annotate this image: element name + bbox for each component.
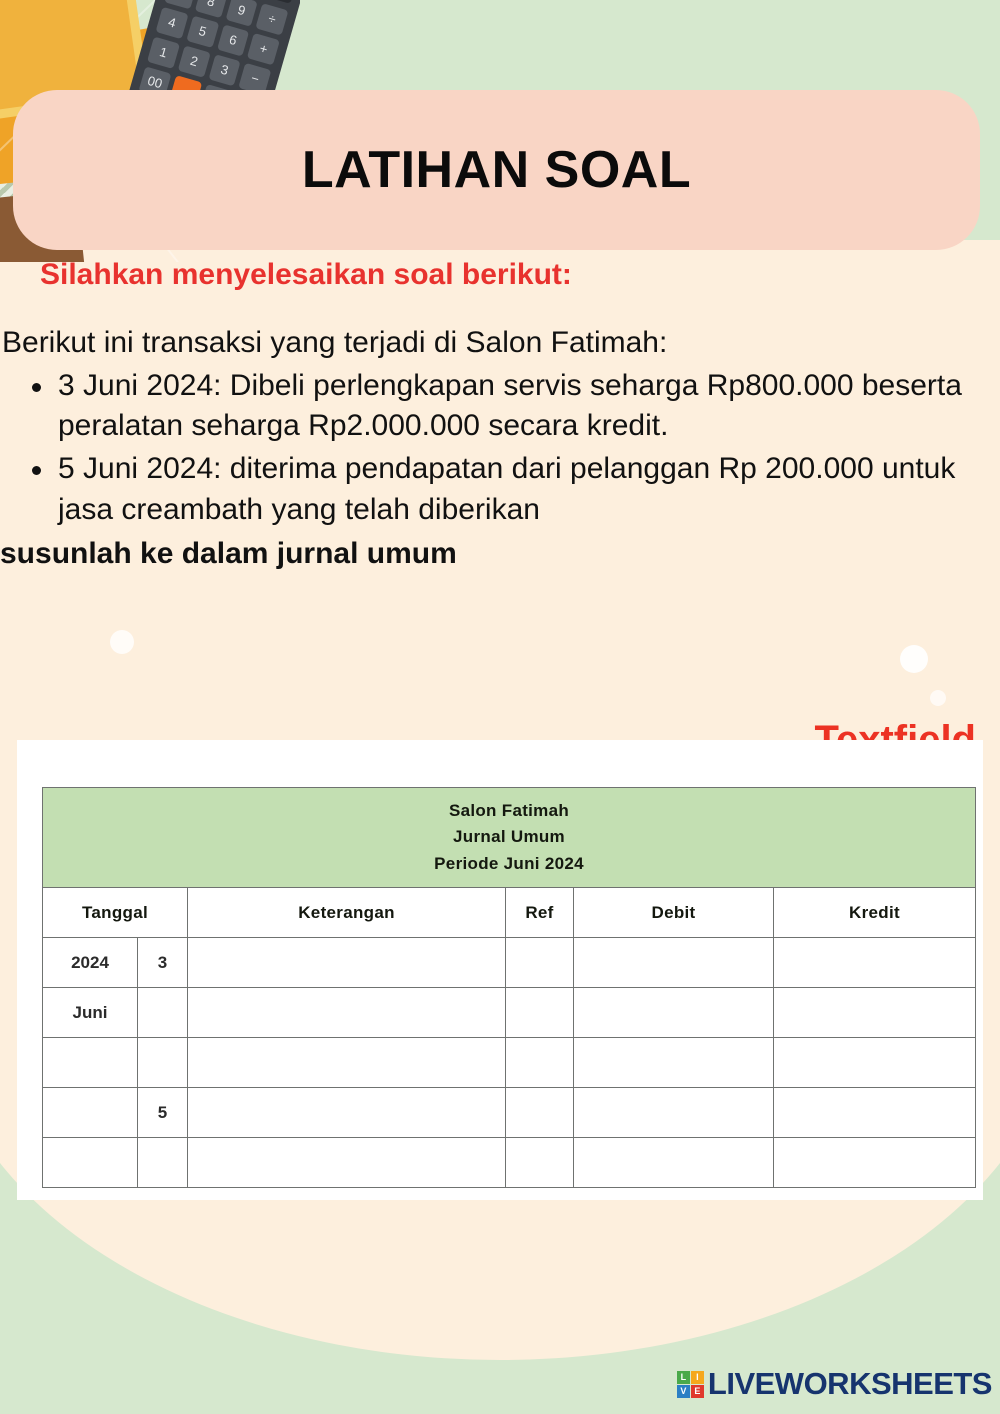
cell-day[interactable]: 3	[138, 938, 188, 988]
list-item: 3 Juni 2024: Dibeli perlengkapan servis …	[58, 366, 985, 448]
cell-kredit[interactable]	[774, 938, 976, 988]
liveworksheets-tiles-icon: L I V E	[677, 1371, 704, 1398]
calc-key: 6	[217, 24, 250, 56]
table-row	[43, 1138, 976, 1188]
cell-keterangan[interactable]	[188, 1038, 506, 1088]
cell-ref[interactable]	[506, 1138, 574, 1188]
cell-year[interactable]	[43, 1138, 138, 1188]
calc-key: 1	[147, 37, 180, 69]
cell-kredit[interactable]	[774, 1138, 976, 1188]
decor-dot	[930, 690, 946, 706]
cell-day[interactable]	[138, 1138, 188, 1188]
table-row: 2024 3	[43, 938, 976, 988]
journal-heading-cell: Salon Fatimah Jurnal Umum Periode Juni 2…	[43, 788, 976, 888]
column-header-kredit: Kredit	[774, 888, 976, 938]
logo-tile-v: V	[677, 1385, 690, 1398]
column-header-tanggal: Tanggal	[43, 888, 188, 938]
calc-key: 8	[195, 0, 228, 18]
cell-day[interactable]	[138, 1038, 188, 1088]
table-row: Juni	[43, 988, 976, 1038]
cell-kredit[interactable]	[774, 1088, 976, 1138]
logo-tile-l: L	[677, 1371, 690, 1384]
table-row: 5	[43, 1088, 976, 1138]
cell-keterangan[interactable]	[188, 988, 506, 1038]
calc-key: +	[247, 33, 280, 65]
cell-year[interactable]: 2024	[43, 938, 138, 988]
question-closing: susunlah ke dalam jurnal umum	[0, 537, 985, 571]
title-banner: LATIHAN SOAL	[13, 90, 980, 250]
page-title: LATIHAN SOAL	[302, 140, 691, 200]
cell-year[interactable]	[43, 1088, 138, 1138]
cell-debit[interactable]	[574, 938, 774, 988]
cell-kredit[interactable]	[774, 1038, 976, 1088]
table-row	[43, 1038, 976, 1088]
list-item: 5 Juni 2024: diterima pendapatan dari pe…	[58, 449, 985, 531]
cell-debit[interactable]	[574, 1038, 774, 1088]
transaction-list: 3 Juni 2024: Dibeli perlengkapan servis …	[0, 366, 985, 531]
cell-ref[interactable]	[506, 938, 574, 988]
cell-debit[interactable]	[574, 1088, 774, 1138]
cell-ref[interactable]	[506, 1088, 574, 1138]
journal-company: Salon Fatimah	[43, 798, 975, 824]
logo-tile-e: E	[691, 1385, 704, 1398]
calc-key: 5	[186, 16, 219, 48]
journal-period: Periode Juni 2024	[43, 851, 975, 877]
cell-day[interactable]	[138, 988, 188, 1038]
logo-tile-i: I	[691, 1371, 704, 1384]
table-header-row: Tanggal Keterangan Ref Debit Kredit	[43, 888, 976, 938]
instruction-heading: Silahkan menyelesaikan soal berikut:	[40, 258, 572, 292]
journal-table: Salon Fatimah Jurnal Umum Periode Juni 2…	[42, 787, 976, 1188]
question-block: Berikut ini transaksi yang terjadi di Sa…	[0, 325, 985, 571]
calc-key: 9	[225, 0, 258, 27]
cell-keterangan[interactable]	[188, 1088, 506, 1138]
calc-key: 3	[208, 54, 241, 86]
cell-debit[interactable]	[574, 1138, 774, 1188]
brand-wordmark: LIVEWORKSHEETS	[708, 1366, 992, 1402]
table-title-row: Salon Fatimah Jurnal Umum Periode Juni 2…	[43, 788, 976, 888]
cell-keterangan[interactable]	[188, 938, 506, 988]
cell-year[interactable]: Juni	[43, 988, 138, 1038]
cell-ref[interactable]	[506, 988, 574, 1038]
column-header-keterangan: Keterangan	[188, 888, 506, 938]
worksheet-page: 7 8 9 ÷ 4 5 6 + 1 2 3 − 00 LATIHAN SOAL …	[0, 0, 1000, 1414]
cell-kredit[interactable]	[774, 988, 976, 1038]
decor-dot	[900, 645, 928, 673]
cell-keterangan[interactable]	[188, 1138, 506, 1188]
cell-debit[interactable]	[574, 988, 774, 1038]
cell-day[interactable]: 5	[138, 1088, 188, 1138]
decor-dot	[110, 630, 134, 654]
cell-year[interactable]	[43, 1038, 138, 1088]
column-header-ref: Ref	[506, 888, 574, 938]
journal-type: Jurnal Umum	[43, 824, 975, 850]
question-lead: Berikut ini transaksi yang terjadi di Sa…	[0, 325, 985, 362]
journal-table-card: Salon Fatimah Jurnal Umum Periode Juni 2…	[17, 740, 983, 1200]
column-header-debit: Debit	[574, 888, 774, 938]
cell-ref[interactable]	[506, 1038, 574, 1088]
calc-key: ÷	[256, 3, 289, 35]
calc-key: 4	[155, 7, 188, 39]
calc-key: 2	[177, 45, 210, 77]
liveworksheets-logo: L I V E LIVEWORKSHEETS	[677, 1366, 992, 1402]
